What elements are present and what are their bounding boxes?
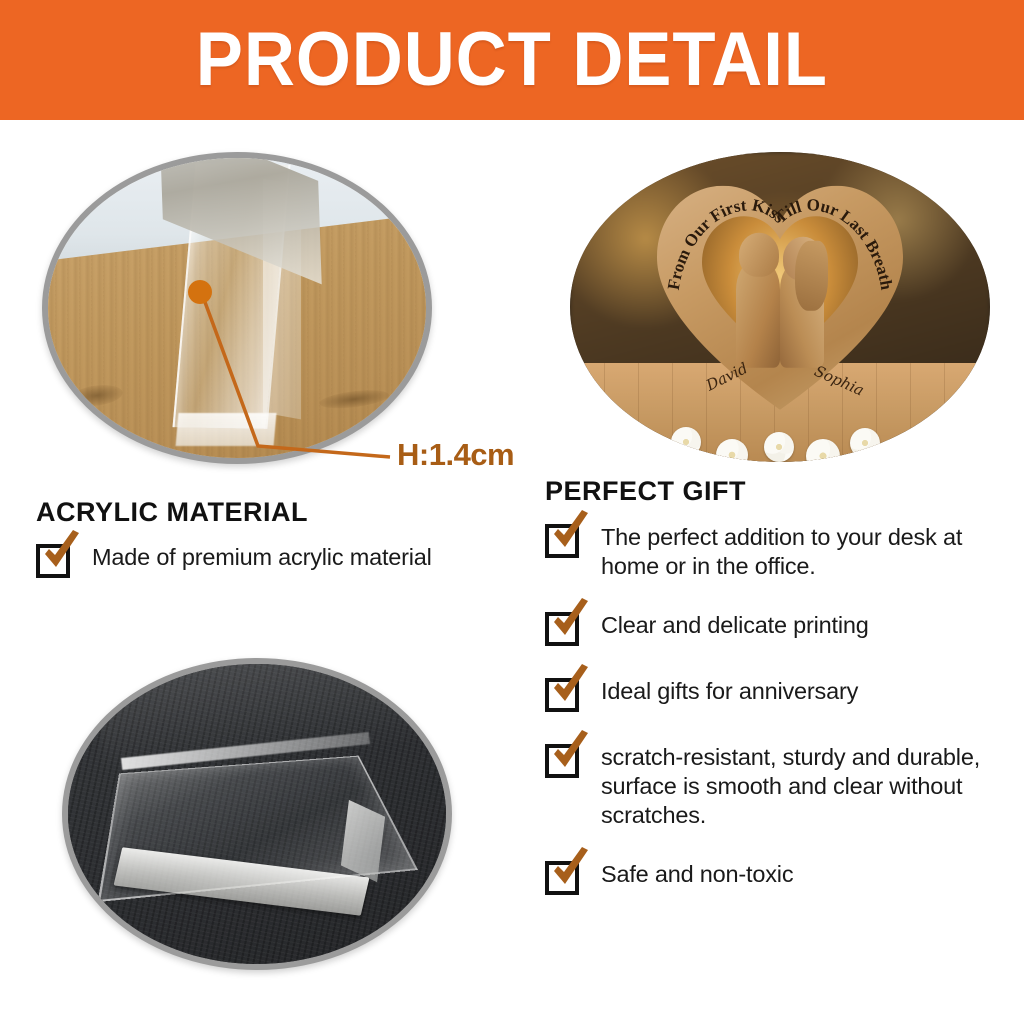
decorative-flowers	[620, 394, 939, 462]
feature-text: Clear and delicate printing	[601, 606, 869, 640]
photo-heart-plaque: From Our First Kiss Till Our Last Breath…	[570, 152, 990, 462]
checkbox-checked-icon[interactable]	[36, 540, 74, 578]
feature-item: The perfect addition to your desk at hom…	[545, 518, 1005, 580]
feature-item: Ideal gifts for anniversary	[545, 672, 1005, 712]
feature-item: Safe and non-toxic	[545, 855, 1005, 895]
page-header-banner: PRODUCT DETAIL	[0, 0, 1024, 120]
flower	[764, 432, 794, 462]
photo-acrylic-edge-on-wood	[42, 152, 432, 464]
flower	[806, 439, 840, 462]
feature-text: scratch-resistant, sturdy and durable, s…	[601, 738, 1005, 829]
feature-item: scratch-resistant, sturdy and durable, s…	[545, 738, 1005, 829]
callout-label: H:1.4cm	[397, 437, 514, 473]
wood-knot	[70, 382, 124, 408]
checkbox-checked-icon[interactable]	[545, 740, 583, 778]
section-heading-perfect-gift: PERFECT GIFT	[545, 476, 746, 507]
feature-text: The perfect addition to your desk at hom…	[601, 518, 1005, 580]
feature-text: Ideal gifts for anniversary	[601, 672, 858, 706]
feature-text: Made of premium acrylic material	[92, 538, 432, 572]
heart-plaque: From Our First Kiss Till Our Last Breath…	[655, 182, 905, 414]
figure-man-head	[739, 233, 779, 277]
checkbox-checked-icon[interactable]	[545, 608, 583, 646]
section-heading-acrylic-material: ACRYLIC MATERIAL	[36, 497, 308, 528]
feature-list-perfect-gift: The perfect addition to your desk at hom…	[545, 518, 1005, 921]
acrylic-base-edge	[175, 413, 276, 446]
checkbox-checked-icon[interactable]	[545, 520, 583, 558]
engraved-couple-figures	[733, 233, 828, 368]
feature-text: Safe and non-toxic	[601, 855, 793, 889]
flower	[850, 428, 880, 458]
wood-knot	[318, 387, 389, 411]
flower	[716, 439, 748, 462]
flower	[889, 438, 921, 462]
feature-item: Made of premium acrylic material	[36, 538, 516, 578]
photo-acrylic-block-on-slate	[62, 658, 452, 970]
flower	[671, 427, 701, 457]
flower	[627, 434, 661, 462]
checkbox-checked-icon[interactable]	[545, 674, 583, 712]
feature-item: Clear and delicate printing	[545, 606, 1005, 646]
checkbox-checked-icon[interactable]	[545, 857, 583, 895]
page-title: PRODUCT DETAIL	[196, 22, 828, 98]
feature-list-acrylic-material: Made of premium acrylic material	[36, 538, 516, 600]
figure-man-body	[736, 262, 780, 367]
figure-woman-hair	[795, 241, 827, 311]
